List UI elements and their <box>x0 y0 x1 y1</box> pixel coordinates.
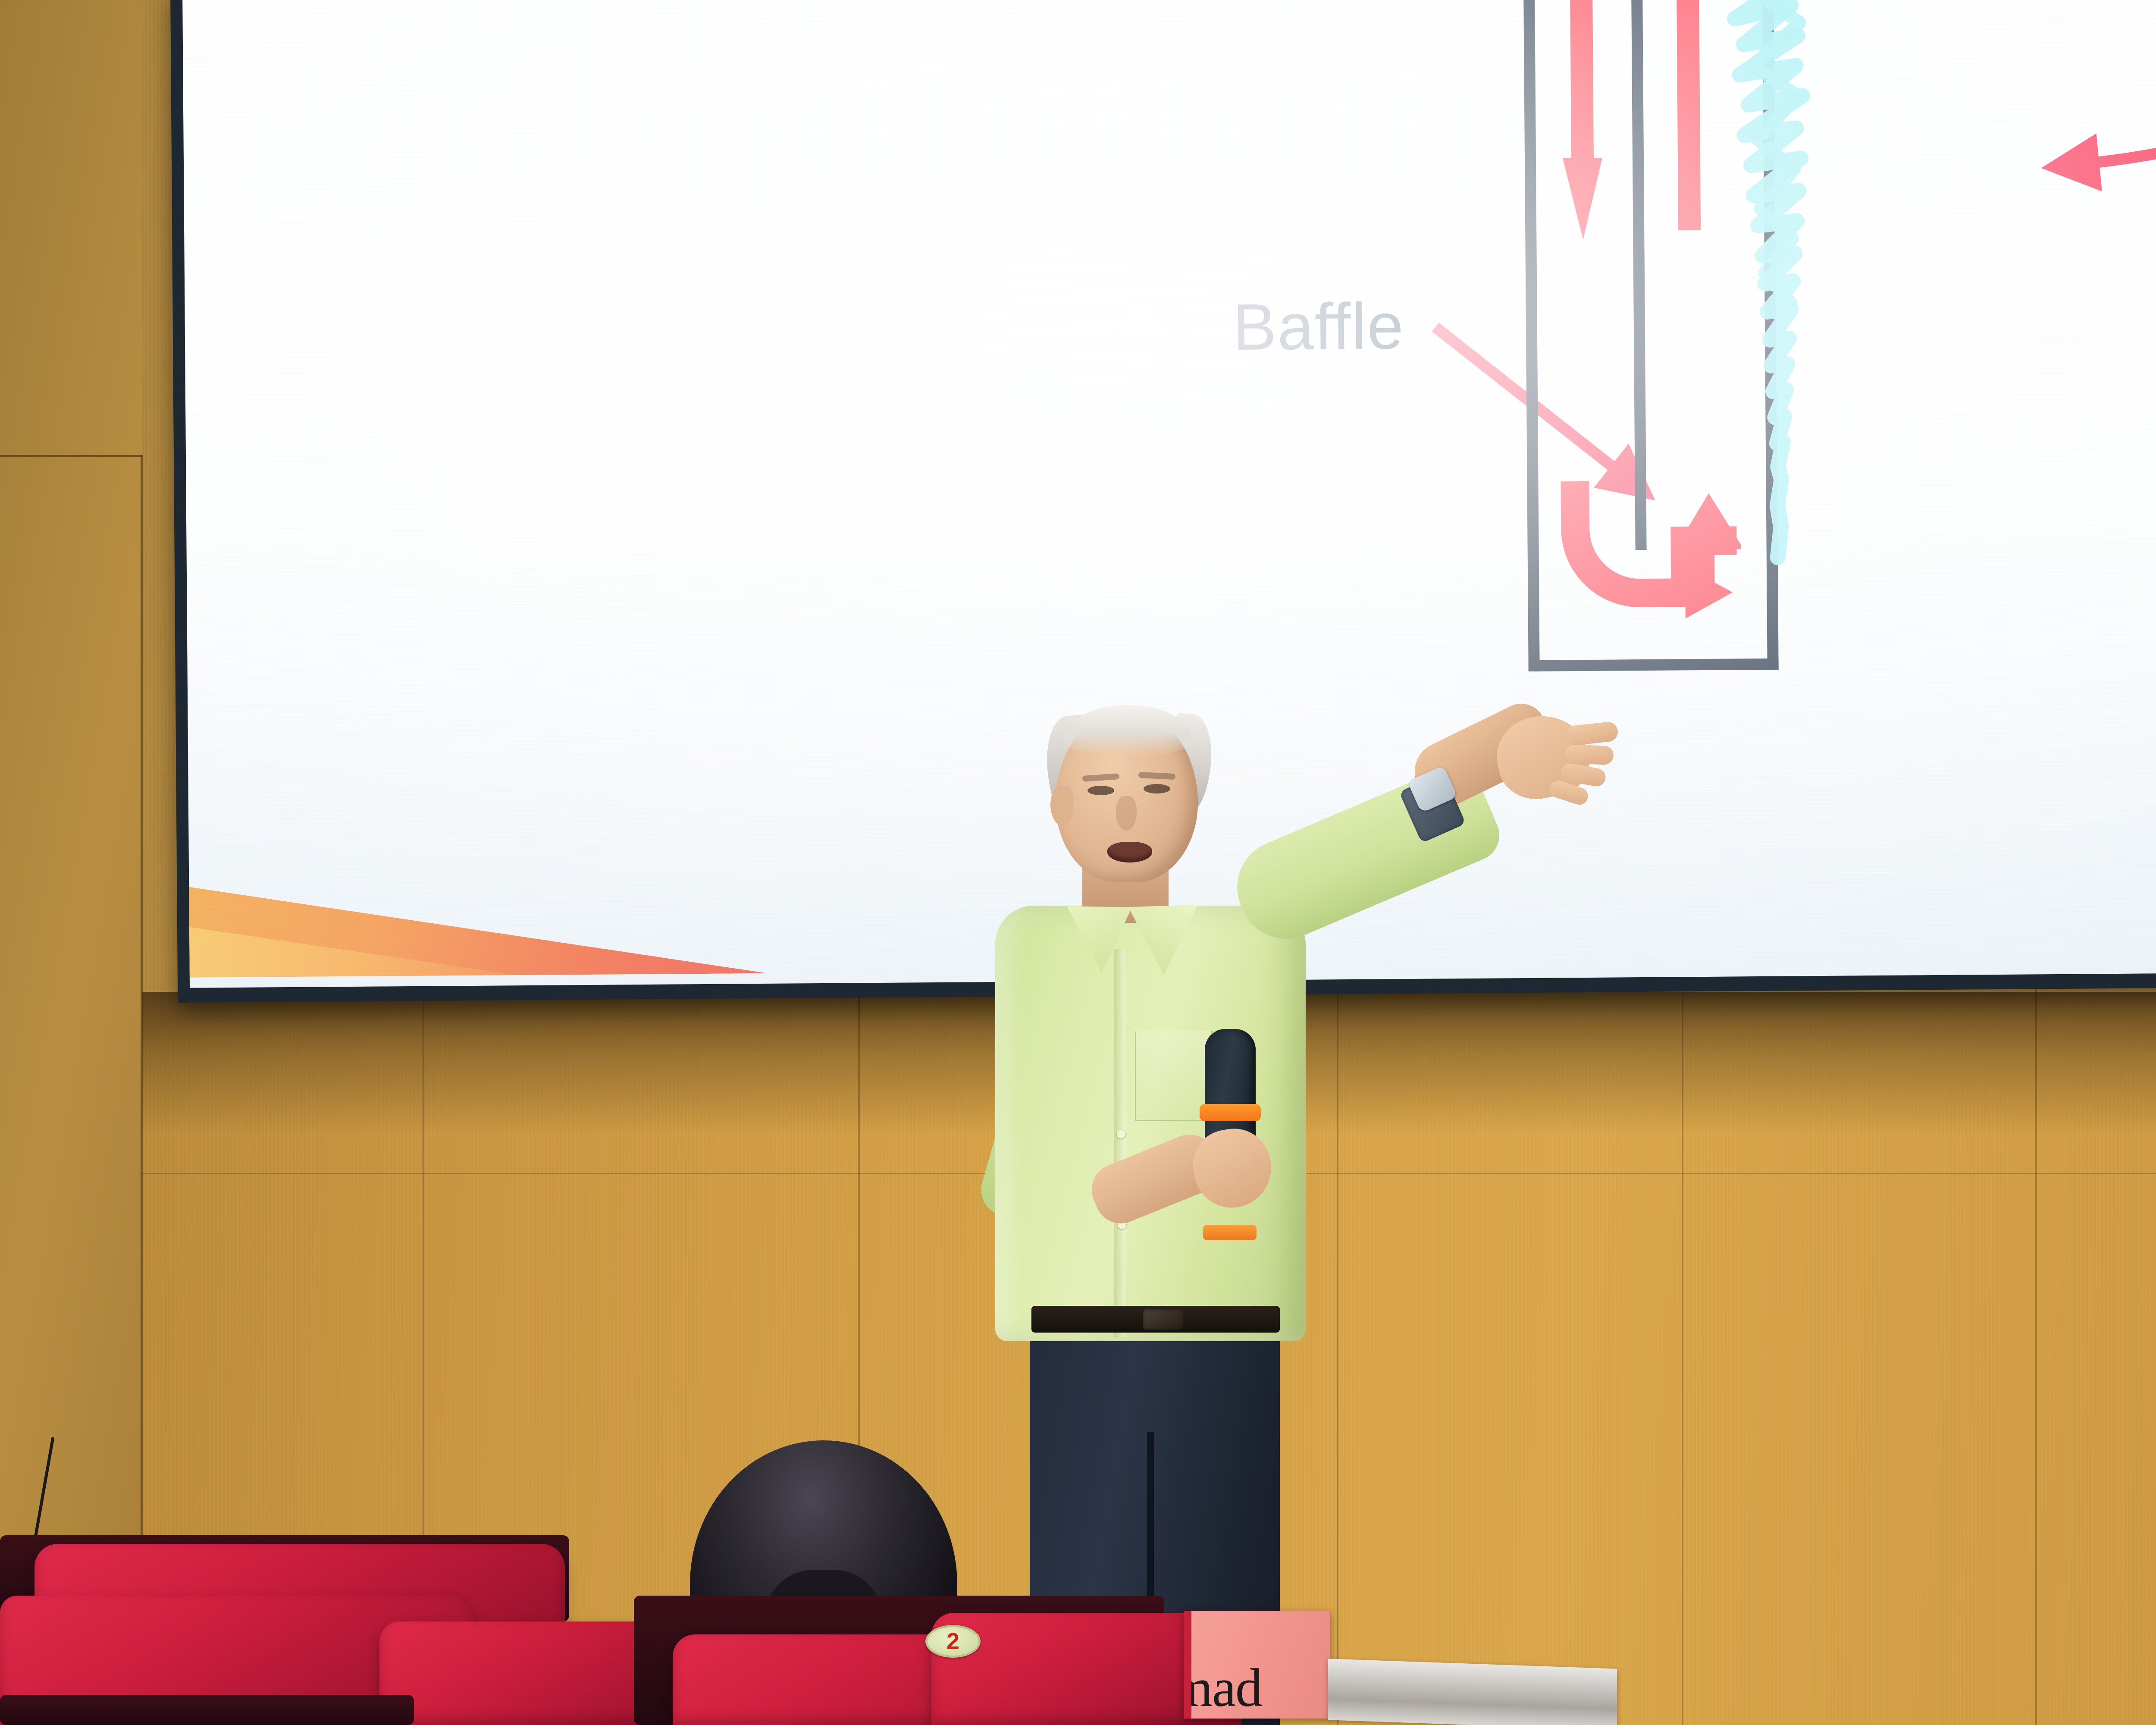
shirt-button <box>1117 1130 1125 1138</box>
desk-nameplate: mad <box>1184 1611 1330 1719</box>
left-wall-panel <box>0 0 142 1725</box>
presenter-mouth <box>1107 842 1152 862</box>
red-s-curve-arrow <box>1984 0 2156 491</box>
shirt-placket <box>1114 949 1125 1337</box>
left-panel-seam-horizontal <box>0 455 142 457</box>
presenter-hair-top <box>1064 705 1192 756</box>
presenter-eye-right <box>1144 784 1170 793</box>
hand-finger <box>1565 744 1614 765</box>
downward-flow-arrow <box>1561 0 1603 240</box>
left-panel-seam-vertical <box>141 455 143 1725</box>
cyan-ink-scribble <box>1708 0 1855 567</box>
nameplate-text: mad <box>1184 1657 1262 1719</box>
lecture-hall-photo: Baffle <box>0 0 2156 1725</box>
presenter-ear <box>1050 786 1073 825</box>
upward-flow-arrow <box>1667 0 1709 231</box>
seat-shadow <box>0 1695 414 1725</box>
belt-buckle <box>1143 1309 1184 1330</box>
presenter <box>940 673 1578 1725</box>
microphone-orange-band-lower <box>1203 1225 1257 1240</box>
seat-number-badge: 2 <box>925 1625 981 1658</box>
presenter-nose <box>1116 796 1137 831</box>
desk-rail <box>1328 1659 1617 1725</box>
microphone-orange-band <box>1200 1104 1261 1121</box>
presenter-shirt <box>995 906 1306 1341</box>
baffle-label: Baffle <box>1232 289 1404 365</box>
presenter-eye-left <box>1087 786 1114 795</box>
